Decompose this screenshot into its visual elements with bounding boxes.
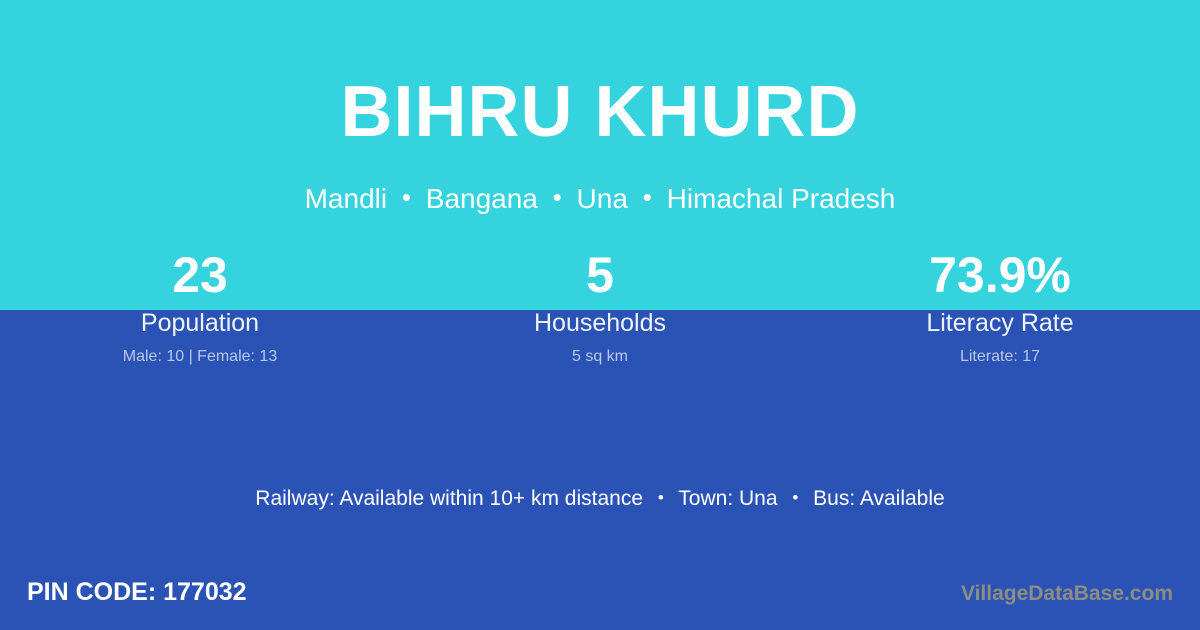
card-footer: PIN CODE: 177032 VillageDataBase.com [0,567,1200,630]
stat-label-literacy-rate: Literacy Rate [800,306,1200,340]
village-info-card: BIHRU KHURD Mandli • Bangana • Una • Him… [0,0,1200,630]
stat-value-population: 23 [0,246,400,304]
info-separator-icon: • [783,488,807,507]
breadcrumb-part-state: Himachal Pradesh [667,183,896,214]
amenities-info-line: Railway: Available within 10+ km distanc… [0,484,1200,515]
location-breadcrumb: Mandli • Bangana • Una • Himachal Prades… [0,182,1200,216]
stat-sub-population: Male: 10 | Female: 13 [0,345,400,369]
info-separator-icon: • [649,488,673,507]
stat-label-population: Population [0,306,400,340]
breadcrumb-part-district: Una [577,183,628,214]
info-bus: Bus: Available [813,487,945,510]
stat-value-households: 5 [400,246,800,304]
breadcrumb-separator-icon: • [395,182,418,212]
breadcrumb-part-block: Bangana [426,183,538,214]
stat-label-households: Households [400,306,800,340]
stat-sub-literacy-rate: Literate: 17 [800,345,1200,369]
stat-households: 5 Households 5 sq km [400,246,800,369]
stat-population: 23 Population Male: 10 | Female: 13 [0,246,400,369]
info-railway: Railway: Available within 10+ km distanc… [255,487,643,510]
stat-value-literacy-rate: 73.9% [800,246,1200,304]
page-title: BIHRU KHURD [0,76,1200,148]
breadcrumb-separator-icon: • [546,182,569,212]
stats-row: 23 Population Male: 10 | Female: 13 5 Ho… [0,246,1200,369]
breadcrumb-separator-icon: • [636,182,659,212]
stat-literacy-rate: 73.9% Literacy Rate Literate: 17 [800,246,1200,369]
site-branding: VillageDataBase.com [961,580,1173,608]
info-town: Town: Una [678,487,777,510]
breadcrumb-part-panchayat: Mandli [305,183,387,214]
pin-code: PIN CODE: 177032 [27,575,247,609]
stat-sub-households: 5 sq km [400,345,800,369]
